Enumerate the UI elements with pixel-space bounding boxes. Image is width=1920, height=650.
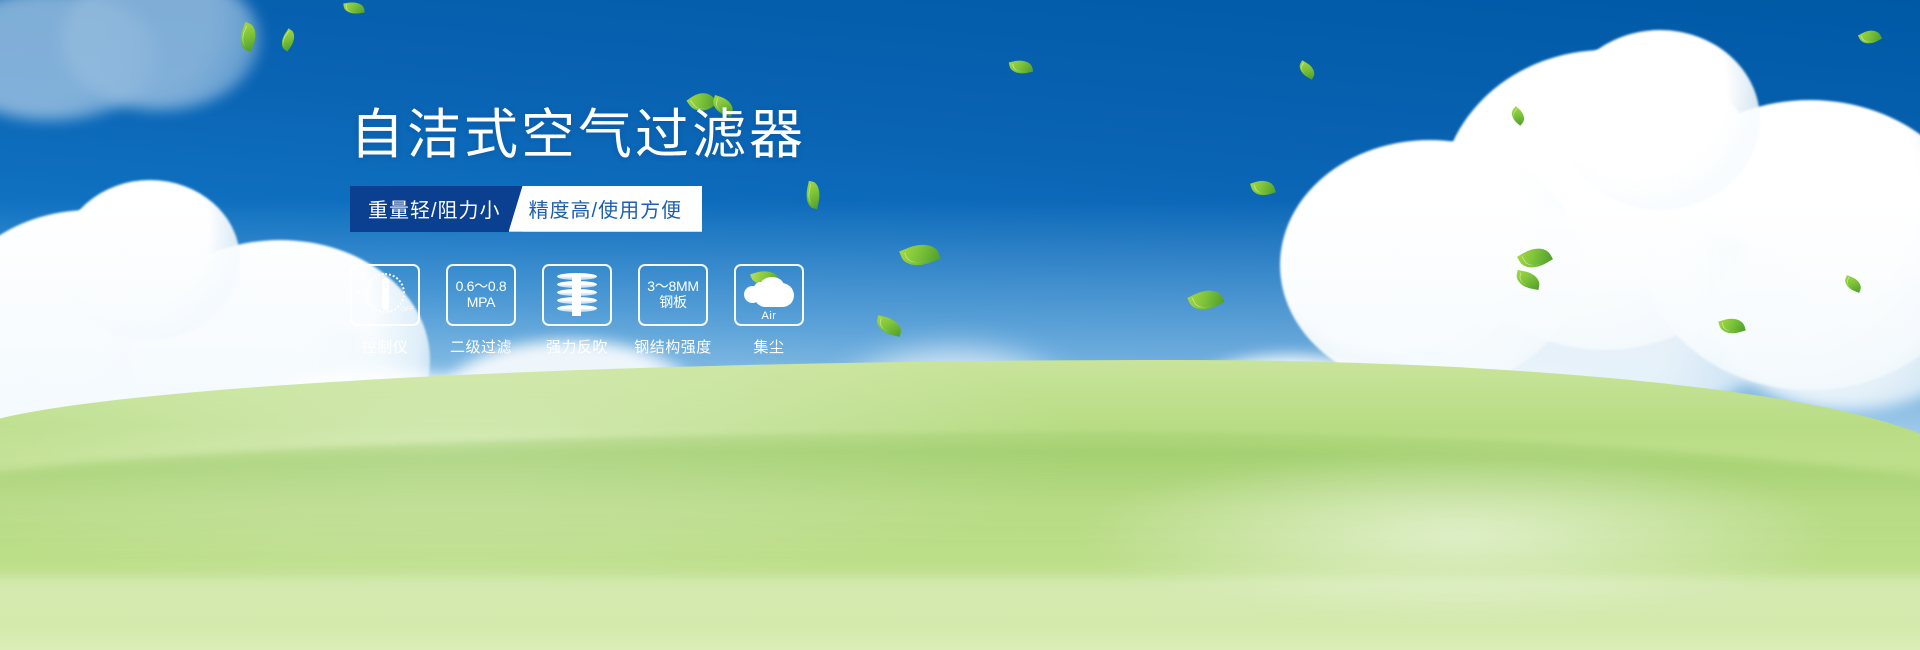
feature-label: 钢结构强度: [634, 336, 712, 357]
leaf-icon: [1009, 58, 1033, 76]
banner-content: 自洁式空气过滤器 重量轻/阻力小 精度高/使用方便 NO OFF 控制仪: [350, 104, 1070, 357]
leaf-icon: [343, 1, 364, 16]
feature-item-dust: Air 集尘: [734, 264, 804, 357]
feature-box-text-line2: MPA: [467, 295, 495, 311]
leaf-icon: [1842, 275, 1863, 293]
leaf-icon: [1517, 242, 1553, 274]
feature-box: NO OFF: [350, 264, 420, 326]
feature-label: 强力反吹: [546, 336, 608, 357]
leaf-icon: [1515, 270, 1541, 290]
feature-box: 0.6～0.8 MPA: [446, 264, 516, 326]
hero-banner: 自洁式空气过滤器 重量轻/阻力小 精度高/使用方便 NO OFF 控制仪: [0, 0, 1920, 650]
badge-primary: 重量轻/阻力小: [350, 186, 523, 232]
gauge-label-no: NO: [356, 290, 366, 296]
page-title: 自洁式空气过滤器: [350, 104, 1070, 168]
feature-box: 3～8MM 钢板: [638, 264, 708, 326]
feature-box-text-line1: 3～8MM: [647, 279, 698, 295]
cloud-top-left: [0, 0, 260, 130]
feature-label: 集尘: [753, 336, 784, 357]
leaf-icon: [1718, 315, 1745, 337]
leaf-icon: [1187, 284, 1225, 316]
feature-item-steel: 3～8MM 钢板 钢结构强度: [638, 264, 708, 357]
feature-box: [542, 264, 612, 326]
air-cloud-icon: Air: [742, 273, 796, 317]
feature-box-text-line1: 0.6～0.8: [456, 279, 507, 295]
feature-item-backblow: 强力反吹: [542, 264, 612, 357]
air-label: Air: [742, 310, 796, 322]
feature-item-controller: NO OFF 控制仪: [350, 264, 420, 357]
leaf-icon: [1508, 106, 1528, 125]
leaf-icon: [1250, 177, 1276, 199]
cloud-right: [1260, 40, 1920, 400]
feature-label: 二级过滤: [450, 336, 512, 357]
badge-secondary: 精度高/使用方便: [509, 186, 703, 232]
leaf-icon: [236, 22, 261, 52]
feature-item-pressure: 0.6～0.8 MPA 二级过滤: [446, 264, 516, 357]
leaf-icon: [277, 28, 298, 51]
gauge-label-off: OFF: [401, 307, 414, 313]
gauge-icon: NO OFF: [359, 272, 411, 318]
coil-filter-icon: [554, 272, 600, 318]
feature-box-text-line2: 钢板: [659, 295, 686, 311]
leaf-icon: [1858, 26, 1882, 48]
badge-group: 重量轻/阻力小 精度高/使用方便: [350, 186, 1070, 232]
leaf-icon: [1296, 60, 1318, 79]
feature-list: NO OFF 控制仪 0.6～0.8 MPA 二级过滤: [350, 264, 1070, 357]
grass-field: [0, 360, 1920, 650]
feature-box: Air: [734, 264, 804, 326]
feature-label: 控制仪: [362, 336, 409, 357]
